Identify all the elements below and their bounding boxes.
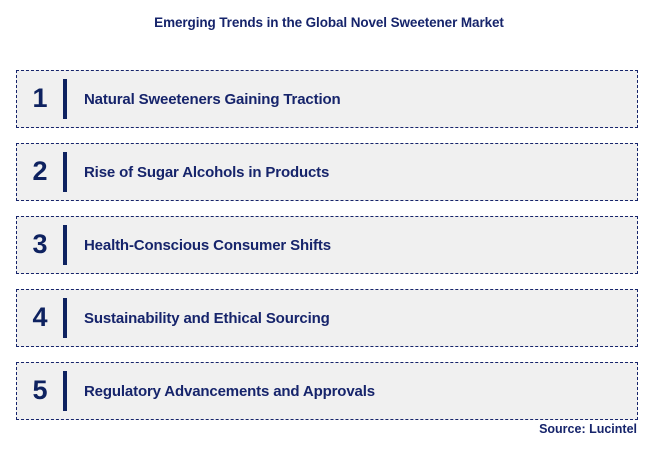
trend-number: 5 <box>17 377 63 406</box>
trend-row-1: 1 Natural Sweeteners Gaining Traction <box>16 70 638 128</box>
trend-row-4: 4 Sustainability and Ethical Sourcing <box>16 289 638 347</box>
trend-number: 2 <box>17 158 63 187</box>
trend-number: 3 <box>17 231 63 260</box>
infographic-canvas: Emerging Trends in the Global Novel Swee… <box>0 0 658 458</box>
trend-number: 1 <box>17 85 63 114</box>
trend-label: Rise of Sugar Alcohols in Products <box>67 164 637 181</box>
trend-number: 4 <box>17 304 63 333</box>
trend-list: 1 Natural Sweeteners Gaining Traction 2 … <box>16 70 638 420</box>
trend-label: Health-Conscious Consumer Shifts <box>67 237 637 254</box>
trend-label: Regulatory Advancements and Approvals <box>67 383 637 400</box>
page-title: Emerging Trends in the Global Novel Swee… <box>0 15 658 30</box>
source-attribution: Source: Lucintel <box>539 422 637 436</box>
trend-label: Natural Sweeteners Gaining Traction <box>67 91 637 108</box>
trend-label: Sustainability and Ethical Sourcing <box>67 310 637 327</box>
trend-row-2: 2 Rise of Sugar Alcohols in Products <box>16 143 638 201</box>
trend-row-3: 3 Health-Conscious Consumer Shifts <box>16 216 638 274</box>
trend-row-5: 5 Regulatory Advancements and Approvals <box>16 362 638 420</box>
